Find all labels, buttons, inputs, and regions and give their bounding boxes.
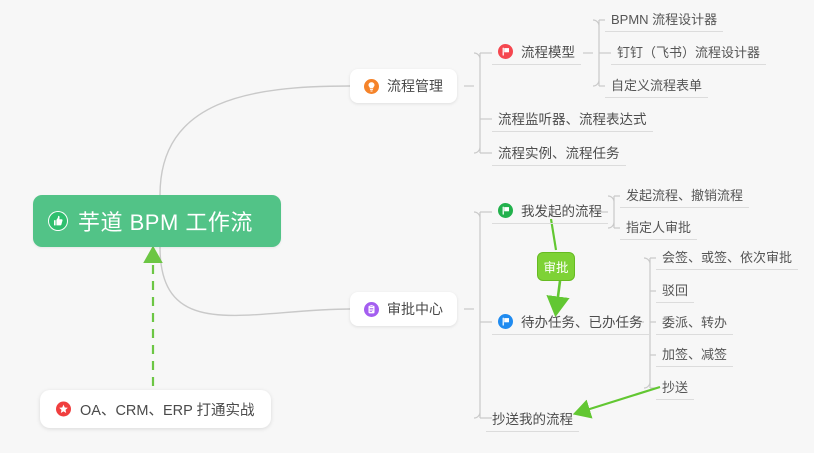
leaf-reject-label: 驳回 [662, 280, 688, 299]
leaf-custom-form[interactable]: 自定义流程表单 [605, 75, 708, 98]
node-process-model[interactable]: 流程模型 [492, 41, 581, 65]
leaf-cc[interactable]: 抄送 [656, 377, 694, 400]
leaf-bpmn-designer-label: BPMN 流程设计器 [611, 9, 717, 28]
leaf-dingtalk-designer[interactable]: 钉钉（飞书）流程设计器 [611, 42, 766, 65]
leaf-add-remove-sign[interactable]: 加签、减签 [656, 344, 733, 367]
connector-root-to-process-management [160, 86, 350, 195]
node-my-started-process-label: 我发起的流程 [521, 200, 602, 220]
node-my-started-process[interactable]: 我发起的流程 [492, 200, 608, 224]
thumbs-up-icon [47, 210, 69, 232]
leaf-cc-label: 抄送 [662, 377, 688, 396]
flag-icon [498, 44, 513, 59]
node-approval-center[interactable]: 审批中心 [350, 292, 457, 326]
clipboard-icon [364, 302, 379, 317]
annotation-arrow-approval-bottom [556, 281, 560, 312]
lightbulb-icon [364, 79, 379, 94]
node-process-instance-label: 流程实例、流程任务 [498, 142, 620, 162]
leaf-multi-approve-label: 会签、或签、依次审批 [662, 247, 792, 266]
node-process-management[interactable]: 流程管理 [350, 69, 457, 103]
root-node[interactable]: 芋道 BPM 工作流 [33, 195, 281, 247]
node-process-listener-label: 流程监听器、流程表达式 [498, 108, 647, 128]
root-node-label: 芋道 BPM 工作流 [78, 205, 253, 237]
approval-badge[interactable]: 审批 [537, 252, 575, 281]
integration-card-label: OA、CRM、ERP 打通实战 [80, 399, 255, 420]
leaf-delegate-transfer-label: 委派、转办 [662, 312, 727, 331]
node-process-model-label: 流程模型 [521, 41, 575, 61]
approval-badge-label: 审批 [543, 257, 568, 276]
connector-my-started-bracket [608, 196, 614, 228]
node-todo-done-tasks-label: 待办任务、已办任务 [521, 311, 643, 331]
leaf-start-cancel-process-label: 发起流程、撤销流程 [626, 185, 743, 204]
connector-process-management-bracket [474, 53, 480, 153]
leaf-dingtalk-designer-label: 钉钉（飞书）流程设计器 [617, 42, 760, 61]
leaf-assign-approver[interactable]: 指定人审批 [620, 217, 697, 240]
leaf-delegate-transfer[interactable]: 委派、转办 [656, 312, 733, 335]
connector-approval-center-bracket [474, 212, 480, 418]
connector-process-model-bracket [593, 20, 599, 86]
leaf-custom-form-label: 自定义流程表单 [611, 75, 702, 94]
node-cc-my-process-label: 抄送我的流程 [492, 408, 573, 428]
connector-root-to-approval-center [160, 247, 350, 315]
node-todo-done-tasks[interactable]: 待办任务、已办任务 [492, 311, 649, 335]
node-process-management-label: 流程管理 [387, 76, 443, 96]
leaf-start-cancel-process[interactable]: 发起流程、撤销流程 [620, 185, 749, 208]
node-approval-center-label: 审批中心 [387, 299, 443, 319]
node-process-instance[interactable]: 流程实例、流程任务 [492, 142, 626, 166]
leaf-assign-approver-label: 指定人审批 [626, 217, 691, 236]
node-cc-my-process[interactable]: 抄送我的流程 [486, 408, 579, 432]
flag-icon [498, 203, 513, 218]
leaf-bpmn-designer[interactable]: BPMN 流程设计器 [605, 9, 723, 32]
annotation-arrow-cc-to-cc-my-process [577, 387, 660, 413]
leaf-multi-approve[interactable]: 会签、或签、依次审批 [656, 247, 798, 270]
integration-card[interactable]: OA、CRM、ERP 打通实战 [40, 390, 271, 428]
leaf-reject[interactable]: 驳回 [656, 280, 694, 303]
node-process-listener[interactable]: 流程监听器、流程表达式 [492, 108, 653, 132]
mindmap-canvas: 芋道 BPM 工作流 流程管理 流程模型 BPMN 流程设计器 钉钉（飞书）流程 [0, 0, 814, 453]
leaf-add-remove-sign-label: 加签、减签 [662, 344, 727, 363]
star-icon [56, 402, 71, 417]
flag-icon [498, 314, 513, 329]
